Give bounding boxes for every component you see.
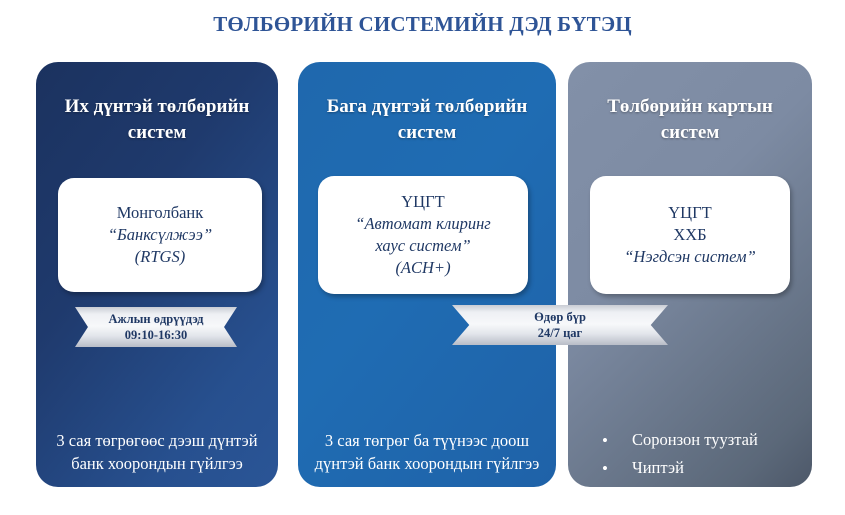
ribbon-banner-operating-hours-rtgs: Ажлын өдрүүдэд 09:10-16:30 <box>75 307 237 347</box>
ribbon-2-line-2: 24/7 цаг <box>538 325 582 341</box>
bullet-icon: • <box>602 487 608 504</box>
panel-2-card-line-4: (ACH+) <box>395 257 450 279</box>
bullet-icon: • <box>602 460 608 477</box>
panel-3-card-line-3: “Нэгдсэн систем” <box>624 246 756 268</box>
panel-3-card-line-1: ҮЦГТ <box>668 202 711 224</box>
panel-1-card-line-2: “Банксүлжээ” <box>108 224 212 246</box>
ribbon-banner-operating-hours-24-7: Өдөр бүр 24/7 цаг <box>452 305 668 345</box>
list-item-label: Чиптэй <box>632 458 684 477</box>
panel-2-card-line-1: ҮЦГТ <box>401 191 444 213</box>
panel-1-card-line-3: (RTGS) <box>135 246 185 268</box>
panel-1-system-card: Монголбанк “Банксүлжээ” (RTGS) <box>58 178 262 292</box>
ribbon-1-line-2: 09:10-16:30 <box>125 327 188 343</box>
panel-2-header: Бага дүнтэй төлбөрийн систем <box>308 94 546 145</box>
panel-1-header: Их дүнтэй төлбөрийн систем <box>46 94 268 145</box>
panel-large-value-payment-system[interactable]: Их дүнтэй төлбөрийн систем Монголбанк “Б… <box>36 62 278 487</box>
ribbon-2-line-1: Өдөр бүр <box>534 309 586 325</box>
panel-2-system-card: ҮЦГТ “Автомат клиринг хаус систем” (ACH+… <box>318 176 528 294</box>
panel-2-card-line-3: хаус систем” <box>375 235 470 257</box>
list-item: • Соронзон туузтай <box>600 432 802 449</box>
list-item: • Зайн мэдрэгчтэй <box>600 487 802 504</box>
panel-1-footer-text: 3 сая төгрөгөөс дээш дүнтэй банк хооронд… <box>48 430 266 476</box>
panel-1-card-line-1: Монголбанк <box>117 202 204 224</box>
panel-3-system-card: ҮЦГТ ХХБ “Нэгдсэн систем” <box>590 176 790 294</box>
panel-3-bullet-list: • Соронзон туузтай • Чиптэй • Зайн мэдрэ… <box>600 432 802 515</box>
panel-3-header: Төлбөрийн картын систем <box>578 94 802 145</box>
panel-2-card-line-2: “Автомат клиринг <box>355 213 490 235</box>
panel-3-card-line-2: ХХБ <box>673 224 706 246</box>
panel-low-value-payment-system[interactable]: Бага дүнтэй төлбөрийн систем ҮЦГТ “Автом… <box>298 62 556 487</box>
payment-system-diagram: ТӨЛБӨРИЙН СИСТЕМИЙН ДЭД БҮТЭЦ Их дүнтэй … <box>0 0 845 507</box>
list-item: • Чиптэй <box>600 460 802 477</box>
ribbon-1-line-1: Ажлын өдрүүдэд <box>109 311 204 327</box>
panel-2-footer-text: 3 сая төгрөг ба түүнээс доош дүнтэй банк… <box>310 430 544 476</box>
panel-payment-card-system[interactable]: Төлбөрийн картын систем ҮЦГТ ХХБ “Нэгдсэ… <box>568 62 812 487</box>
bullet-icon: • <box>602 432 608 449</box>
list-item-label: Соронзон туузтай <box>632 430 758 449</box>
list-item-label: Зайн мэдрэгчтэй <box>632 485 749 504</box>
page-title: ТӨЛБӨРИЙН СИСТЕМИЙН ДЭД БҮТЭЦ <box>0 12 845 37</box>
